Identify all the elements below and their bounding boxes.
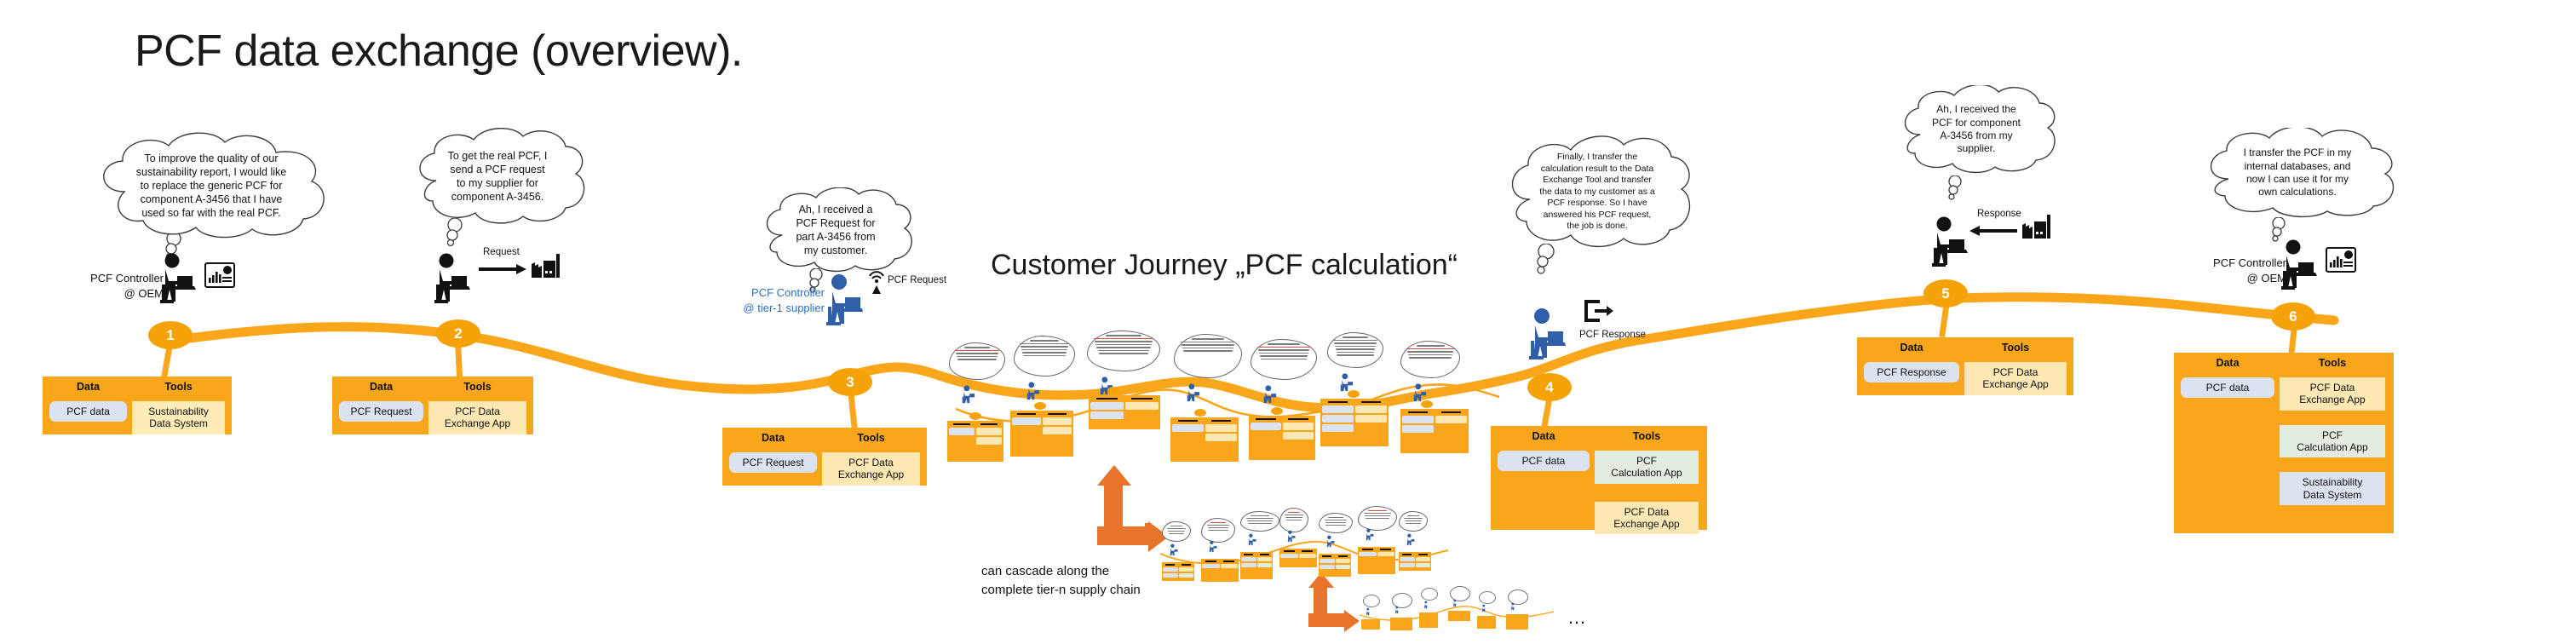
mini-step-circle [1421, 400, 1433, 408]
role-label-1: PCF Controller @ OEM [70, 271, 164, 301]
data-tools-panel-5: Data PCF Response Tools PCF Data Exchang… [1857, 337, 2073, 395]
person-at-desk-icon-2 [429, 252, 470, 305]
thought-bubble-2-text: To get the real PCF, I send a PCF reques… [448, 149, 548, 204]
tools-header-3: Tools [822, 433, 920, 445]
journey-title: Customer Journey „PCF calculation“ [991, 249, 1458, 282]
thought-bubble-5: Ah, I received the PCF for component A-3… [1893, 85, 2060, 174]
person-at-desk-icon-3 [822, 273, 863, 327]
tool-chip-6-2[interactable]: Sustainability Data System [2280, 472, 2385, 505]
mini-data-tools-panel [1400, 409, 1469, 453]
pcf-response-label-4: PCF Response [1579, 330, 1646, 340]
step-circle-1[interactable]: 1 [148, 321, 193, 349]
tiny-person-icon [1366, 607, 1371, 616]
tiny-data-tools-panel [1448, 611, 1470, 621]
step-circle-4[interactable]: 4 [1527, 373, 1572, 401]
step-circle-2[interactable]: 2 [436, 319, 480, 348]
step-circle-5[interactable]: 5 [1923, 279, 1968, 308]
factory-icon-2 [530, 252, 564, 279]
data-header-3: Data [729, 433, 817, 445]
mini-person-icon-l2 [1169, 543, 1178, 556]
mini-data-tools-panel-l2 [1240, 552, 1273, 579]
thought-bubble-4-text: Finally, I transfer the calculation resu… [1539, 152, 1654, 232]
mini-step-circle [1034, 402, 1046, 410]
thought-bubble-1: To improve the quality of our sustainabi… [83, 132, 339, 239]
export-arrow-icon-4 [1583, 298, 1613, 324]
factory-icon-5 [2021, 213, 2055, 240]
mini-person-icon [1339, 373, 1354, 392]
thought-tail-5 [1944, 175, 1966, 206]
person-at-desk-icon-5 [1927, 216, 1968, 268]
tiny-data-tools-panel [1477, 616, 1496, 629]
request-arrow-2 [479, 262, 526, 276]
response-label-5: Response [1977, 209, 2021, 219]
tiny-data-tools-panel [1361, 619, 1380, 630]
data-chip-4-0[interactable]: PCF data [1498, 451, 1590, 471]
step-connector-2 [455, 342, 463, 378]
tool-chip-5-0[interactable]: PCF Data Exchange App [1964, 362, 2067, 395]
tiny-person-icon [1452, 599, 1458, 607]
data-tools-panel-2: Data PCF Request Tools PCF Data Exchange… [332, 377, 533, 434]
cascade-ellipsis: … [1567, 607, 1588, 629]
mini-data-tools-panel-l2 [1162, 562, 1194, 581]
tool-chip-6-0[interactable]: PCF Data Exchange App [2280, 377, 2385, 411]
mini-person-icon-l2 [1325, 535, 1335, 548]
mini-person-icon [961, 385, 975, 404]
mini-thought-bubble [1327, 332, 1383, 368]
mini-person-icon [1412, 383, 1427, 402]
mini-data-tools-panel [1089, 395, 1160, 429]
mini-person-icon-l2 [1208, 540, 1217, 553]
data-tools-panel-6: Data PCF data Tools PCF Data Exchange Ap… [2174, 353, 2394, 533]
thought-bubble-5-text: Ah, I received the PCF for component A-3… [1932, 103, 2021, 155]
pcf-request-label-3: PCF Request [888, 275, 946, 285]
data-header-6: Data [2181, 358, 2274, 370]
thought-bubble-2: To get the real PCF, I send a PCF reques… [407, 128, 588, 225]
tool-chip-2-0[interactable]: PCF Data Exchange App [428, 401, 526, 434]
mini-step-circle [1107, 387, 1119, 394]
mini-data-tools-panel-l2 [1399, 552, 1431, 571]
data-header-1: Data [49, 382, 127, 394]
mini-thought-bubble [1014, 336, 1075, 377]
mini-person-icon [1186, 383, 1200, 402]
mini-person-icon [1262, 385, 1277, 404]
mini-data-tools-panel-l2 [1319, 554, 1351, 577]
mini-thought-bubble [1087, 331, 1160, 371]
mini-data-tools-panel-l2 [1279, 549, 1317, 567]
tool-chip-4-0[interactable]: PCF Calculation App [1595, 451, 1699, 484]
mini-person-icon-l2 [1286, 530, 1296, 543]
dashboard-report-icon-1 [204, 262, 235, 288]
mini-person-icon-l2 [1365, 528, 1374, 541]
data-tools-panel-4: Data PCF data Tools PCF Calculation App … [1491, 426, 1707, 530]
request-label-2: Request [483, 247, 520, 257]
data-tools-panel-3: Data PCF Request Tools PCF Data Exchange… [722, 428, 927, 486]
dashboard-report-icon-6 [2326, 247, 2356, 273]
mini-thought-bubble [949, 342, 1005, 380]
mini-thought-bubble [1400, 341, 1460, 378]
notification-bell-icon-3 [867, 269, 886, 295]
tools-header-6: Tools [2280, 358, 2385, 370]
mini-step-circle [1348, 390, 1360, 398]
mini-data-tools-panel [1170, 417, 1239, 462]
data-header-4: Data [1498, 431, 1590, 443]
mini-data-tools-panel [1010, 411, 1073, 457]
mini-journey-thumbnails [954, 341, 1499, 464]
thought-bubble-6: I transfer the PCF in my internal databa… [2196, 128, 2399, 218]
mini-data-tools-panel [947, 421, 1003, 462]
tools-header-5: Tools [1964, 342, 2067, 354]
tiny-person-icon [1510, 602, 1516, 611]
page-title: PCF data exchange (overview). [135, 26, 743, 77]
mini-step-circle [969, 412, 981, 420]
mini-journey-level-2 [1159, 511, 1448, 588]
data-header-5: Data [1864, 342, 1959, 354]
data-chip-6-0[interactable]: PCF data [2181, 377, 2274, 398]
cascade-arrow-right-2 [1308, 610, 1360, 632]
tiny-thought-bubble [1421, 588, 1438, 601]
mini-data-tools-panel-l2 [1358, 547, 1395, 574]
mini-step-circle [1271, 407, 1283, 415]
data-tools-panel-1: Data PCF data Tools Sustainability Data … [43, 377, 232, 434]
data-chip-2-0[interactable]: PCF Request [339, 401, 423, 422]
tiny-thought-bubble [1363, 595, 1380, 607]
mini-person-icon [1026, 382, 1040, 400]
step-circle-3[interactable]: 3 [828, 368, 872, 396]
tiny-person-icon [1394, 606, 1400, 614]
tiny-person-icon [1423, 601, 1429, 609]
tool-chip-1-0[interactable]: Sustainability Data System [132, 401, 225, 434]
tool-chip-6-1[interactable]: PCF Calculation App [2280, 425, 2385, 458]
thought-bubble-3: Ah, I received a PCF Request for part A-… [756, 187, 915, 273]
person-at-desk-icon-6 [2276, 239, 2317, 291]
person-at-desk-icon-1 [155, 252, 196, 305]
mini-person-icon-l2 [1406, 533, 1415, 546]
tiny-data-tools-panel [1419, 612, 1438, 628]
role-label-3: PCF Controller @ tier-1 supplier [714, 285, 825, 315]
tool-chip-3-0[interactable]: PCF Data Exchange App [822, 452, 920, 486]
mini-person-icon-l2 [1247, 533, 1256, 546]
tools-header-4: Tools [1595, 431, 1699, 443]
data-chip-3-0[interactable]: PCF Request [729, 452, 817, 473]
tiny-thought-bubble [1479, 591, 1496, 604]
role-label-6: PCF Controller @ OEM [2191, 256, 2286, 285]
response-arrow-5 [1969, 224, 2017, 238]
mini-data-tools-panel [1320, 399, 1389, 446]
thought-bubble-6-text: I transfer the PCF in my internal databa… [2244, 147, 2352, 198]
mini-thought-bubble [1251, 339, 1317, 380]
thought-bubble-1-text: To improve the quality of our sustainabi… [136, 152, 286, 220]
mini-journey-level-3 [1358, 588, 1554, 632]
tools-header-1: Tools [132, 382, 225, 394]
mini-data-tools-panel-l2 [1201, 559, 1239, 582]
data-chip-1-0[interactable]: PCF data [49, 401, 127, 422]
tiny-person-icon [1481, 604, 1487, 612]
tiny-data-tools-panel [1506, 614, 1528, 630]
tools-header-2: Tools [428, 382, 526, 394]
person-at-desk-icon-4 [1525, 307, 1566, 361]
thought-bubble-3-text: Ah, I received a PCF Request for part A-… [796, 203, 875, 257]
step-circle-6[interactable]: 6 [2271, 302, 2315, 331]
mini-thought-bubble [1174, 334, 1242, 378]
slide-canvas: PCF data exchange (overview). Customer J… [0, 0, 2576, 644]
thought-bubble-4: Finally, I transfer the calculation resu… [1499, 135, 1695, 250]
data-chip-5-0[interactable]: PCF Response [1864, 362, 1959, 382]
tiny-data-tools-panel [1390, 618, 1412, 630]
tool-chip-4-1[interactable]: PCF Data Exchange App [1595, 502, 1699, 535]
mini-data-tools-panel [1249, 416, 1315, 460]
data-header-2: Data [339, 382, 423, 394]
mini-step-circle [1194, 409, 1206, 417]
